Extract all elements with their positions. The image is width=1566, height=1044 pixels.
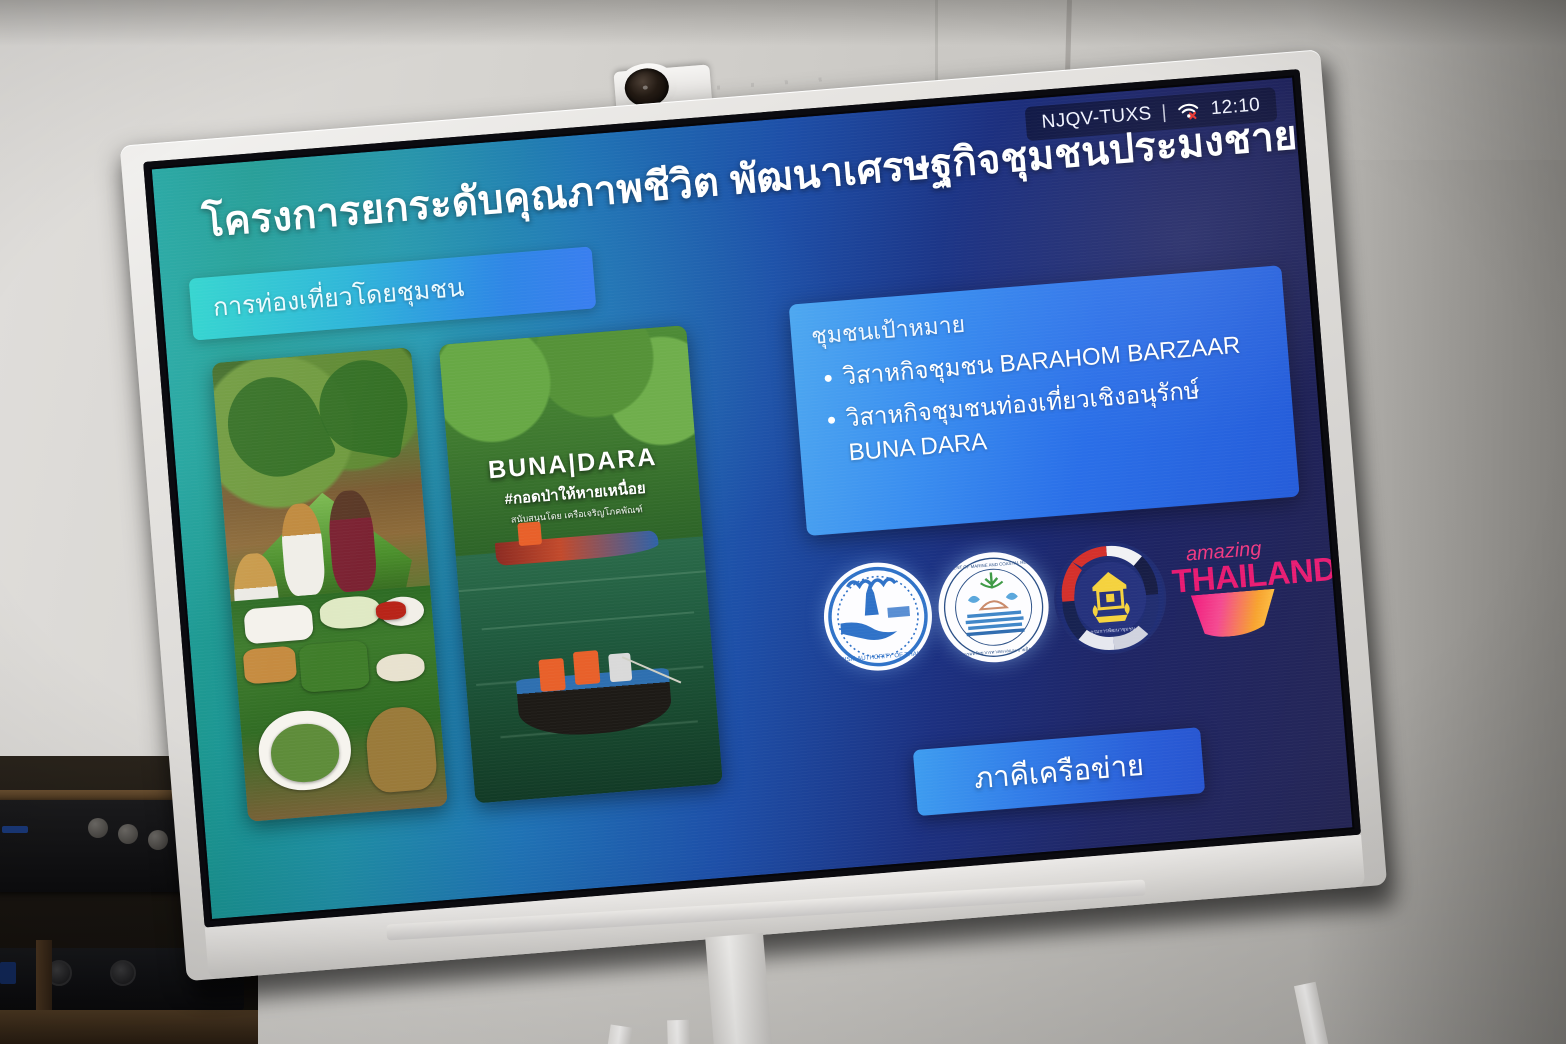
- room-scene: NJQV-TUXS | 12:10 โ: [0, 0, 1566, 1044]
- scene-vignette: [0, 0, 1566, 1044]
